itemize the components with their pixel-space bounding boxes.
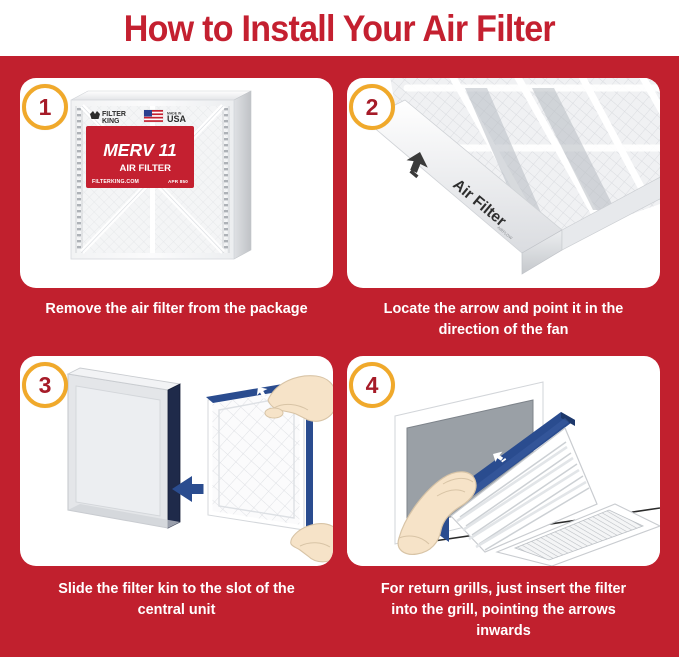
step-caption-1: Remove the air filter from the package xyxy=(28,298,325,319)
step-number-4: 4 xyxy=(366,374,379,397)
website-text: FILTERKING.COM xyxy=(92,179,139,185)
step-number-badge-4: 4 xyxy=(349,362,395,408)
brand-name-line2: KING xyxy=(102,118,120,125)
caption-line: Locate the arrow and point it in the xyxy=(355,298,652,319)
caption-line: inwards xyxy=(355,620,652,641)
brand-name-line1: FILTER xyxy=(102,111,126,118)
step-number-2: 2 xyxy=(366,96,379,119)
title-bar: How to Install Your Air Filter xyxy=(0,0,679,56)
caption-line: into the grill, pointing the arrows xyxy=(355,599,652,620)
merv-value: MERV 11 xyxy=(103,140,177,160)
apr-text: APR 850 xyxy=(168,179,188,184)
step-number-1: 1 xyxy=(39,96,52,119)
caption-line: Slide the filter kin to the slot of the xyxy=(28,578,325,599)
merv-subtitle: AIR FILTER xyxy=(119,163,171,174)
hand-upper xyxy=(265,376,333,422)
step-number-badge-1: 1 xyxy=(22,84,68,130)
usa-text: USA xyxy=(167,114,187,124)
step-number-badge-2: 2 xyxy=(349,84,395,130)
step-caption-4: For return grills, just insert the filte… xyxy=(355,578,652,641)
step-caption-2: Locate the arrow and point it in the dir… xyxy=(355,298,652,340)
merv-label: MERV 11 AIR FILTER FILTERKING.COM APR 85… xyxy=(86,126,194,188)
caption-line: direction of the fan xyxy=(355,319,652,340)
step-number-badge-3: 3 xyxy=(22,362,68,408)
central-unit xyxy=(68,368,180,528)
page-title: How to Install Your Air Filter xyxy=(124,10,555,47)
caption-line: central unit xyxy=(28,599,325,620)
step-caption-3: Slide the filter kin to the slot of the … xyxy=(28,578,325,620)
infographic-root: How to Install Your Air Filter xyxy=(0,0,679,657)
caption-line: For return grills, just insert the filte… xyxy=(355,578,652,599)
step-number-3: 3 xyxy=(39,374,52,397)
caption-line: Remove the air filter from the package xyxy=(45,300,307,317)
